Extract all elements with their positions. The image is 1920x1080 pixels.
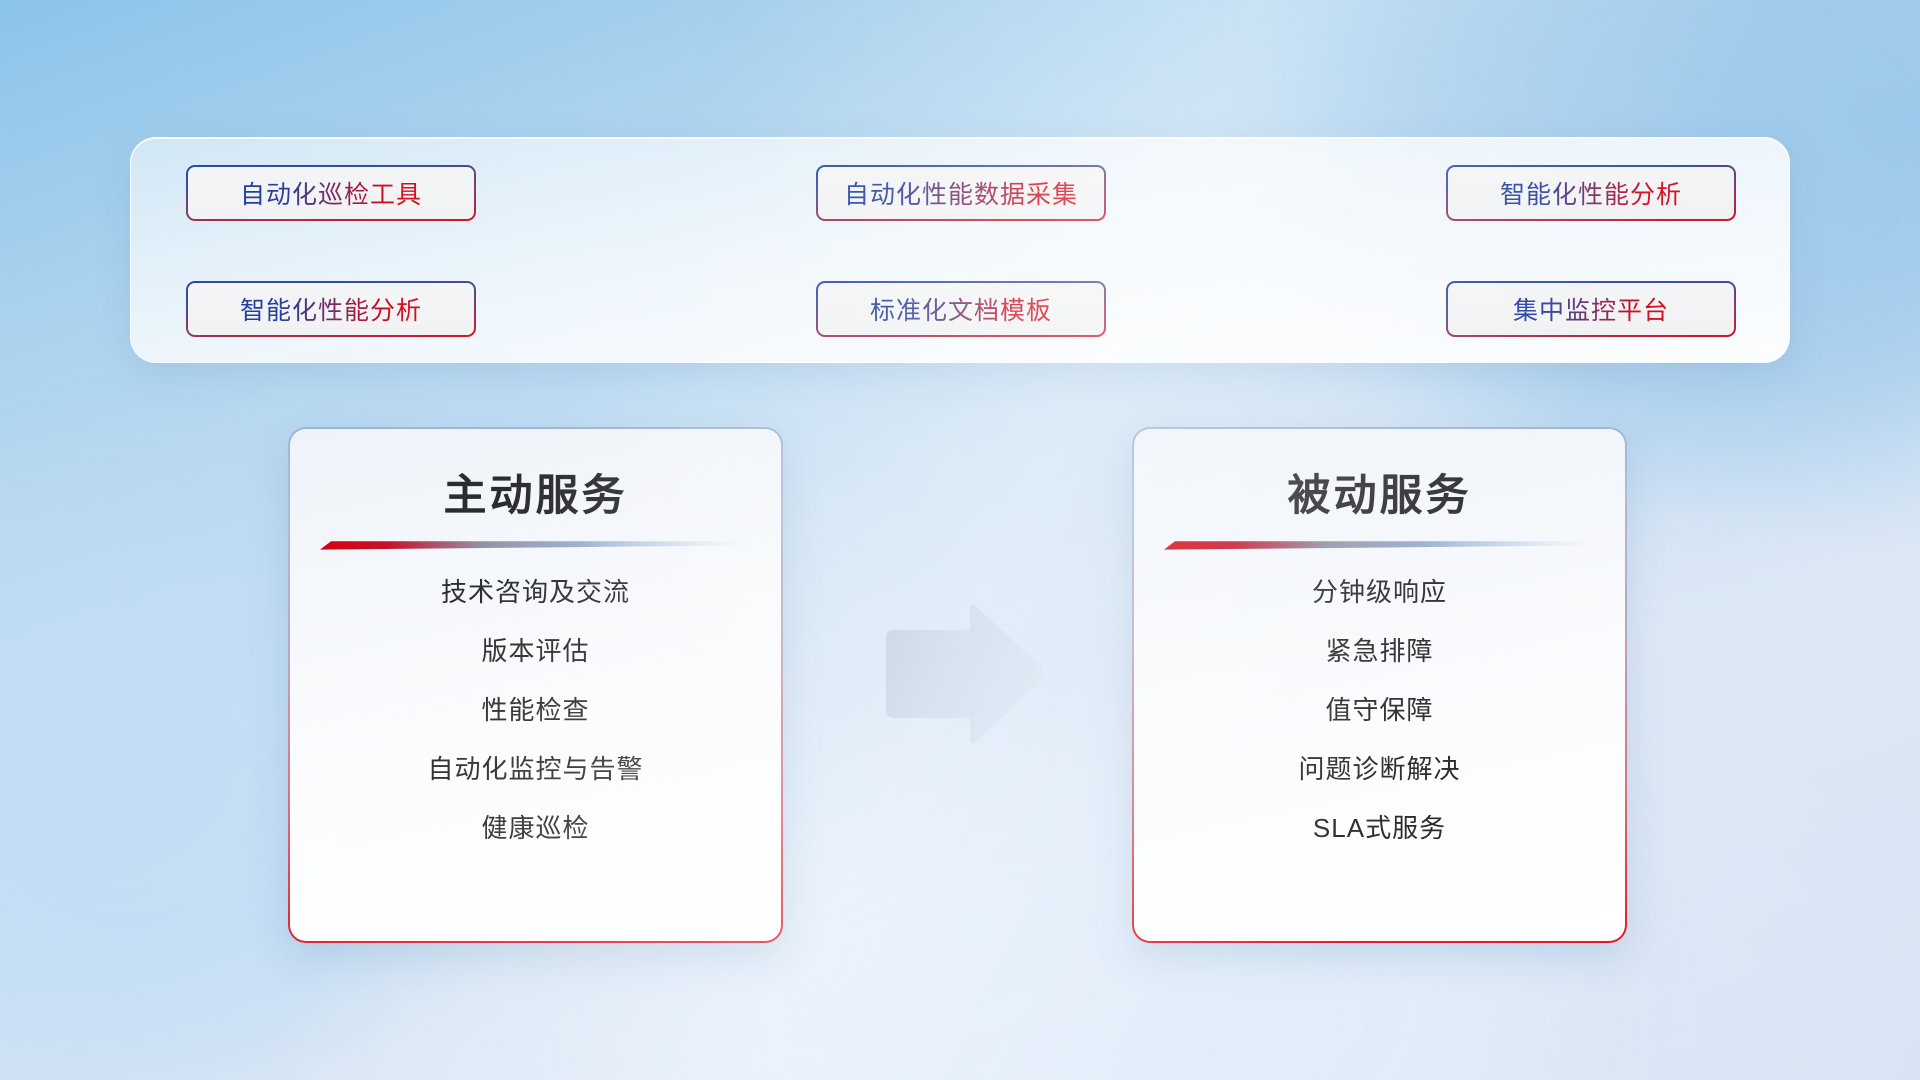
capability-pill-auto-inspection-tool[interactable]: 自动化巡检工具 <box>186 165 476 221</box>
card-list-item: SLA式服务 <box>1313 811 1446 845</box>
card-list-item: 问题诊断解决 <box>1298 752 1460 786</box>
capability-pill-standard-doc-template[interactable]: 标准化文档模板 <box>816 281 1106 337</box>
card-divider-rule <box>1164 539 1599 550</box>
pill-label: 自动化巡检工具 <box>240 175 422 211</box>
card-item-list: 技术咨询及交流 版本评估 性能检查 自动化监控与告警 健康巡检 <box>290 575 781 845</box>
pill-label: 智能化性能分析 <box>240 291 422 327</box>
slide-canvas: 自动化巡检工具 自动化性能数据采集 智能化性能分析 智能化性能分析 <box>0 0 1920 1080</box>
capability-pill-intelligent-perf-analysis-2[interactable]: 智能化性能分析 <box>186 281 476 337</box>
card-proactive-service[interactable]: 主动服务 技术咨询及交流 版本评估 性能检查 <box>288 427 783 943</box>
card-list-item: 健康巡检 <box>481 811 589 845</box>
capability-pill-intelligent-perf-analysis[interactable]: 智能化性能分析 <box>1446 165 1736 221</box>
card-list-item: 值守保障 <box>1325 693 1433 727</box>
card-list-item: 分钟级响应 <box>1312 575 1447 609</box>
pill-surface: 自动化性能数据采集 <box>818 167 1104 219</box>
pill-surface: 智能化性能分析 <box>1448 167 1734 219</box>
card-divider-rule <box>320 539 755 550</box>
card-list-item: 性能检查 <box>481 693 589 727</box>
card-title: 主动服务 <box>290 461 781 523</box>
card-title: 被动服务 <box>1134 461 1625 523</box>
pill-surface: 自动化巡检工具 <box>188 167 474 219</box>
card-list-item: 技术咨询及交流 <box>441 575 630 609</box>
card-item-list: 分钟级响应 紧急排障 值守保障 问题诊断解决 SLA式服务 <box>1134 575 1625 845</box>
capability-pill-centralized-monitor[interactable]: 集中监控平台 <box>1446 281 1736 337</box>
capability-pill-grid: 自动化巡检工具 自动化性能数据采集 智能化性能分析 智能化性能分析 <box>186 165 1736 337</box>
capability-panel: 自动化巡检工具 自动化性能数据采集 智能化性能分析 智能化性能分析 <box>130 137 1790 363</box>
card-list-item: 版本评估 <box>481 634 589 668</box>
card-list-item: 紧急排障 <box>1325 634 1433 668</box>
arrow-right-icon <box>878 602 1042 744</box>
pill-label: 集中监控平台 <box>1513 291 1669 327</box>
card-reactive-service[interactable]: 被动服务 分钟级响应 紧急排障 值守保障 <box>1132 427 1627 943</box>
pill-label: 自动化性能数据采集 <box>844 175 1078 211</box>
pill-surface: 集中监控平台 <box>1448 283 1734 335</box>
capability-pill-auto-perf-data-collection[interactable]: 自动化性能数据采集 <box>816 165 1106 221</box>
pill-surface: 智能化性能分析 <box>188 283 474 335</box>
pill-label: 智能化性能分析 <box>1500 175 1682 211</box>
pill-label: 标准化文档模板 <box>870 291 1052 327</box>
pill-surface: 标准化文档模板 <box>818 283 1104 335</box>
card-surface: 主动服务 技术咨询及交流 版本评估 性能检查 <box>290 429 781 941</box>
card-surface: 被动服务 分钟级响应 紧急排障 值守保障 <box>1134 429 1625 941</box>
card-list-item: 自动化监控与告警 <box>427 752 643 786</box>
